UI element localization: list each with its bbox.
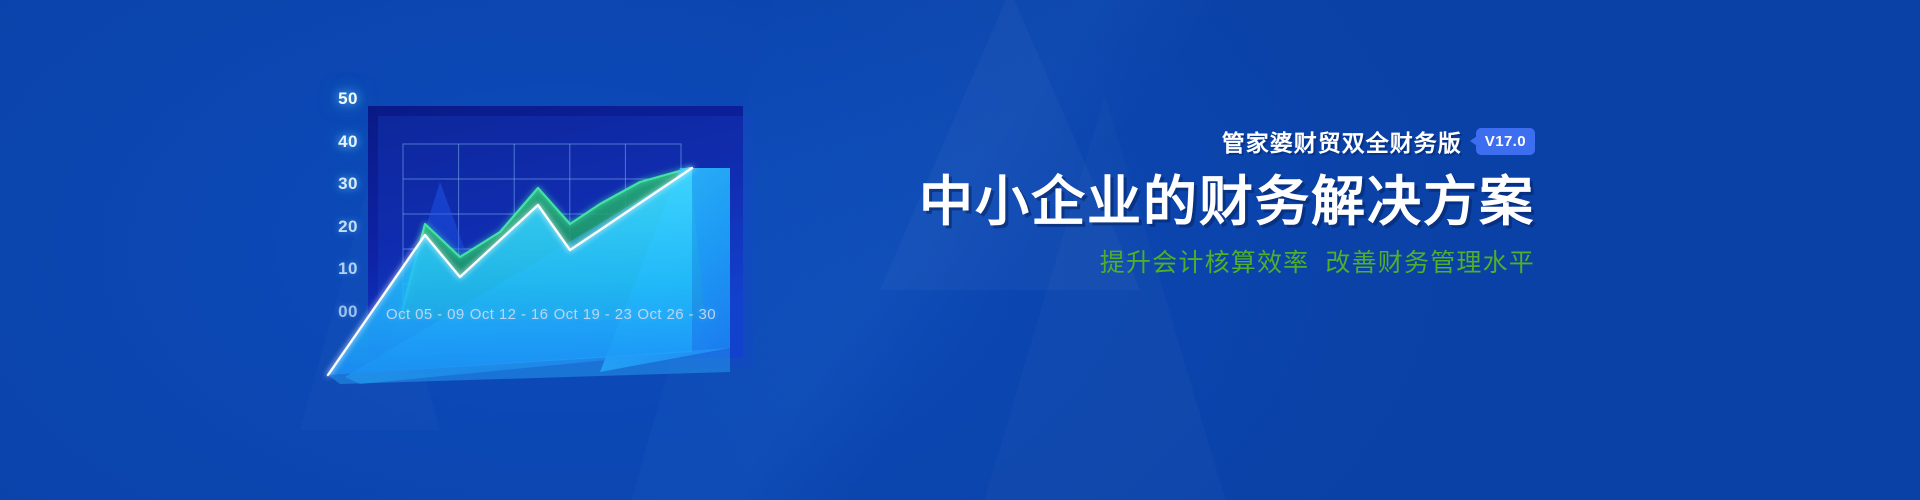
y-axis-tick: 00: [338, 303, 358, 320]
subheadline-part-1: 提升会计核算效率: [1100, 249, 1310, 277]
promo-banner: 50 40 30 20 10 00 Oct 05 - 09 Oct 12 - 1…: [0, 0, 1920, 500]
y-axis-tick: 50: [338, 90, 358, 107]
version-badge: V17.0: [1476, 128, 1535, 155]
marketing-copy: 管家婆财贸双全财务版 V17.0 中小企业的财务解决方案 提升会计核算效率改善财…: [775, 126, 1535, 278]
headline: 中小企业的财务解决方案: [775, 172, 1535, 232]
subheadline: 提升会计核算效率改善财务管理水平: [775, 248, 1535, 278]
y-axis-tick: 10: [338, 260, 358, 277]
x-axis-tick: Oct 19 - 23: [554, 306, 633, 323]
x-axis-tick: Oct 12 - 16: [470, 306, 549, 323]
y-axis-tick: 30: [338, 175, 358, 192]
product-name: 管家婆财贸双全财务版: [1222, 124, 1462, 158]
product-name-row: 管家婆财贸双全财务版 V17.0: [775, 126, 1535, 156]
y-axis-tick: 20: [338, 218, 358, 235]
x-axis-tick: Oct 05 - 09: [386, 306, 465, 323]
chart-y-axis: 50 40 30 20 10 00: [310, 90, 358, 320]
y-axis-tick: 40: [338, 133, 358, 150]
subheadline-part-2: 改善财务管理水平: [1325, 249, 1535, 277]
x-axis-tick: Oct 26 - 30: [637, 306, 716, 323]
chart-x-axis: Oct 05 - 09 Oct 12 - 16 Oct 19 - 23 Oct …: [386, 306, 716, 323]
